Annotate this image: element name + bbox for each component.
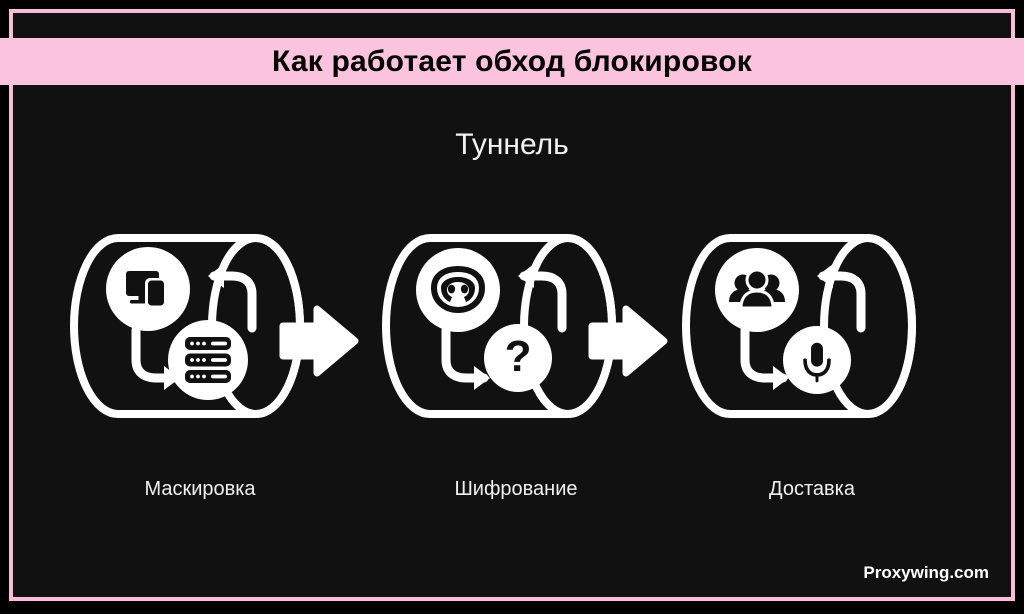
title-banner: Как работает обход блокировок: [0, 38, 1024, 85]
devices-icon: [106, 247, 190, 331]
curved-arrow-right-icon: [745, 330, 789, 390]
question-mark-icon: [484, 324, 552, 392]
microphone-icon: [783, 326, 851, 394]
stage-caption-encryption: Шифрование: [396, 478, 636, 501]
discord-logo-icon: [416, 248, 500, 332]
stage-2-group: [386, 238, 612, 414]
tunnel-heading: Туннель: [0, 128, 1024, 162]
infographic-canvas: ?: [0, 0, 1024, 614]
tunnel-shape: [386, 238, 612, 414]
tunnel-diagram: ?: [0, 0, 1024, 614]
stage-3-group: [686, 238, 912, 414]
stage-caption-delivery: Доставка: [692, 478, 932, 501]
stage-1-group: [74, 238, 300, 414]
page-title: Как работает обход блокировок: [272, 45, 752, 79]
server-rack-icon: [168, 320, 248, 400]
people-group-icon: [715, 248, 799, 332]
block-arrow-right-icon: [592, 309, 664, 373]
stage-caption-masking: Маскировка: [80, 478, 320, 501]
watermark: Proxywing.com: [863, 563, 989, 583]
curved-arrow-right-icon: [446, 330, 490, 390]
